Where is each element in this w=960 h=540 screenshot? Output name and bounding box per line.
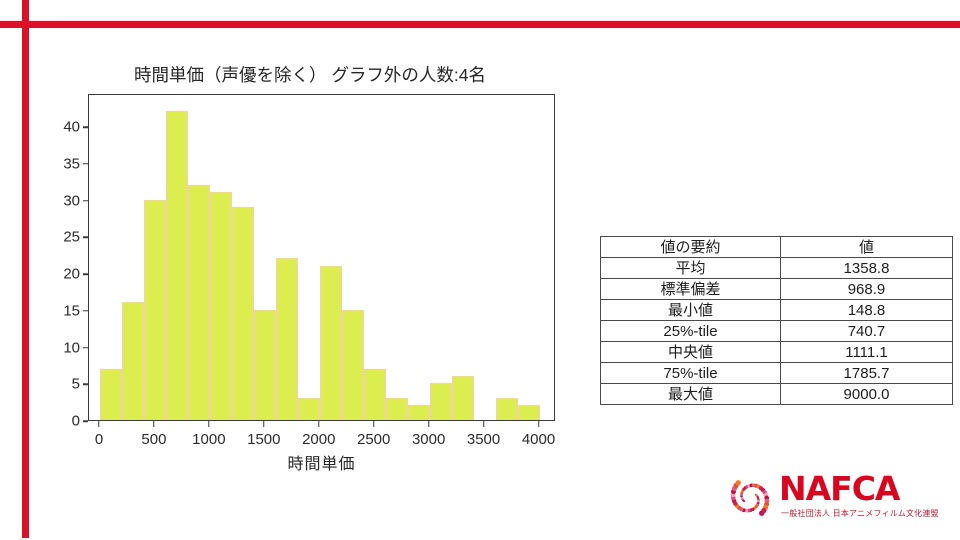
- plot-area: [88, 94, 555, 421]
- table-cell-label: 最小値: [601, 300, 781, 321]
- histogram-bar: [210, 192, 232, 420]
- x-tick-mark: [538, 421, 540, 427]
- y-tick-label: 0: [72, 413, 80, 430]
- y-tick-label: 20: [63, 266, 80, 283]
- table-cell-label: 標準偏差: [601, 279, 781, 300]
- y-tick-label: 5: [72, 376, 80, 393]
- decorative-horizontal-rule: [0, 21, 960, 28]
- table-cell-label: 75%-tile: [601, 363, 781, 384]
- y-tick-label: 40: [63, 119, 80, 136]
- table-row: 最小値148.8: [601, 300, 953, 321]
- table-cell-value: 1358.8: [781, 258, 953, 279]
- histogram-bar: [122, 302, 144, 420]
- table-row: 平均1358.8: [601, 258, 953, 279]
- histogram-bar: [232, 207, 254, 420]
- histogram-bar: [342, 310, 364, 420]
- histogram-bar: [430, 383, 452, 420]
- x-tick-mark: [98, 421, 100, 427]
- x-tick-mark: [318, 421, 320, 427]
- x-tick-mark: [373, 421, 375, 427]
- summary-statistics-table: 値の要約値平均1358.8標準偏差968.9最小値148.825%-tile74…: [600, 236, 953, 405]
- histogram-bar: [188, 185, 210, 420]
- x-tick-mark: [153, 421, 155, 427]
- x-tick-label: 2500: [357, 431, 390, 448]
- table-cell-value: 9000.0: [781, 384, 953, 405]
- table-row: 75%-tile1785.7: [601, 363, 953, 384]
- table-cell-value: 740.7: [781, 321, 953, 342]
- x-tick-label: 2000: [302, 431, 335, 448]
- table-header-cell: 値: [781, 237, 953, 258]
- x-axis-title: 時間単価: [88, 450, 555, 474]
- table-header-row: 値の要約値: [601, 237, 953, 258]
- y-tick-label: 25: [63, 229, 80, 246]
- table-row: 標準偏差968.9: [601, 279, 953, 300]
- x-tick-label: 1500: [247, 431, 280, 448]
- y-axis: 0510152025303540: [40, 94, 88, 421]
- y-tick-label: 35: [63, 155, 80, 172]
- histogram-bar: [298, 398, 320, 420]
- x-tick-mark: [428, 421, 430, 427]
- histogram-bar: [386, 398, 408, 420]
- table-row: 25%-tile740.7: [601, 321, 953, 342]
- nafca-wordmark: NAFCA: [779, 472, 899, 506]
- table-cell-label: 25%-tile: [601, 321, 781, 342]
- x-tick-label: 4000: [522, 431, 555, 448]
- table-cell-label: 平均: [601, 258, 781, 279]
- x-tick-label: 1000: [192, 431, 225, 448]
- x-tick-mark: [263, 421, 265, 427]
- chart-title: 時間単価（声優を除く） グラフ外の人数:4名: [40, 62, 580, 87]
- histogram-bar: [144, 200, 166, 420]
- histogram-bar: [364, 369, 386, 420]
- table-cell-label: 中央値: [601, 342, 781, 363]
- y-tick-label: 30: [63, 192, 80, 209]
- table-row: 最大値9000.0: [601, 384, 953, 405]
- x-tick-label: 3000: [412, 431, 445, 448]
- x-tick-label: 500: [141, 431, 166, 448]
- table-row: 中央値1111.1: [601, 342, 953, 363]
- y-tick-label: 15: [63, 302, 80, 319]
- table-cell-value: 148.8: [781, 300, 953, 321]
- histogram-bar: [452, 376, 474, 420]
- x-tick-label: 3500: [467, 431, 500, 448]
- histogram-bar: [166, 111, 188, 420]
- histogram-bar: [276, 258, 298, 420]
- table-cell-value: 1785.7: [781, 363, 953, 384]
- table-cell-value: 968.9: [781, 279, 953, 300]
- histogram-bar: [320, 266, 342, 420]
- x-tick-label: 0: [95, 431, 103, 448]
- y-tick-label: 10: [63, 339, 80, 356]
- histogram-bar: [100, 369, 122, 420]
- histogram-bar: [408, 405, 430, 420]
- table-cell-value: 1111.1: [781, 342, 953, 363]
- x-tick-mark: [208, 421, 210, 427]
- x-tick-mark: [483, 421, 485, 427]
- histogram-bar: [496, 398, 518, 420]
- x-axis-title-text: 時間単価: [287, 456, 355, 473]
- histogram-bar: [518, 405, 540, 420]
- nafca-logo: NAFCA 一般社団法人 日本アニメフィルム文化連盟: [725, 472, 945, 524]
- nafca-spiral-mark: [725, 474, 775, 522]
- histogram-chart: 時間単価（声優を除く） グラフ外の人数:4名 区分ごとの人数 051015202…: [40, 62, 580, 472]
- table-header-cell: 値の要約: [601, 237, 781, 258]
- bars-layer: [89, 95, 554, 420]
- nafca-subtitle: 一般社団法人 日本アニメフィルム文化連盟: [781, 508, 939, 519]
- table-cell-label: 最大値: [601, 384, 781, 405]
- histogram-bar: [254, 310, 276, 420]
